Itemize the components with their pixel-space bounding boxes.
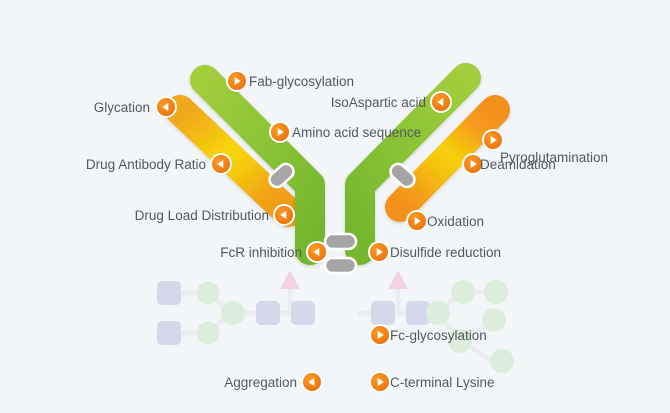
glycan-circle — [451, 280, 475, 304]
glycan-right — [360, 270, 514, 373]
glycan-left — [157, 270, 315, 345]
marker-c-terminal-lysine[interactable] — [371, 373, 389, 391]
disulfide-bond-pill — [325, 234, 356, 249]
marker-aggregation[interactable] — [303, 373, 321, 391]
label-fc-glycosylation[interactable]: Fc-glycosylation — [390, 329, 487, 343]
antibody-diagram — [0, 0, 670, 413]
label-disulfide-reduction[interactable]: Disulfide reduction — [390, 246, 501, 260]
glycan-circle — [197, 282, 220, 305]
chain-disulfide-bonds — [266, 161, 417, 190]
marker-drug-load-distribution[interactable] — [275, 206, 293, 224]
glycan-circle — [490, 349, 514, 373]
label-oxidation[interactable]: Oxidation — [427, 215, 484, 229]
glycan-circle — [197, 322, 220, 345]
label-isoaspartic-acid[interactable]: IsoAspartic acid — [0, 96, 426, 110]
glycan-square — [157, 281, 181, 305]
label-deamidation[interactable]: Deamidation — [480, 158, 556, 172]
glycan-square — [256, 301, 280, 325]
marker-pyroglutamination[interactable] — [484, 131, 502, 149]
label-amino-acid-sequence[interactable]: Amino acid sequence — [292, 126, 421, 140]
glycan-circle — [426, 301, 450, 325]
marker-amino-acid-sequence[interactable] — [271, 123, 289, 141]
label-fab-glycosylation[interactable]: Fab-glycosylation — [249, 75, 354, 89]
disulfide-bond-pill — [387, 161, 417, 190]
glycan-triangle — [388, 270, 408, 289]
disulfide-bond-pill — [325, 258, 356, 273]
label-aggregation[interactable]: Aggregation — [0, 376, 297, 390]
label-drug-antibody-ratio[interactable]: Drug Antibody Ratio — [0, 158, 206, 172]
figure-canvas: Fab-glycosylationGlycationIsoAspartic ac… — [0, 0, 670, 413]
marker-fc-glycosylation[interactable] — [371, 326, 389, 344]
marker-fab-glycosylation[interactable] — [228, 72, 246, 90]
marker-drug-antibody-ratio[interactable] — [212, 155, 230, 173]
glycan-square — [157, 321, 181, 345]
marker-disulfide-reduction[interactable] — [370, 243, 388, 261]
marker-oxidation[interactable] — [408, 212, 426, 230]
marker-isoaspartic-acid[interactable] — [432, 93, 450, 111]
glycan-circle — [221, 301, 245, 325]
label-fcr-inhibition[interactable]: FcR inhibition — [0, 246, 302, 260]
marker-fcr-inhibition[interactable] — [308, 243, 326, 261]
label-c-terminal-lysine[interactable]: C-terminal Lysine — [390, 376, 495, 390]
label-drug-load-distribution[interactable]: Drug Load Distribution — [0, 209, 269, 223]
glycan-circle — [484, 280, 508, 304]
